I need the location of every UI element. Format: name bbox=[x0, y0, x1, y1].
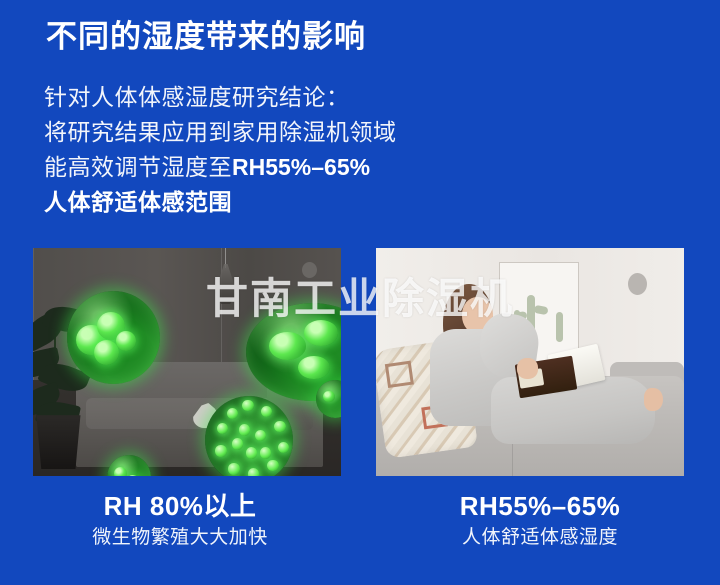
microbe-spike bbox=[239, 424, 250, 435]
microbe-spike bbox=[261, 406, 272, 417]
microbe-nub bbox=[94, 340, 119, 365]
photo-row bbox=[33, 248, 685, 476]
microbe-nub bbox=[304, 320, 338, 345]
pendant-lamp bbox=[218, 248, 234, 308]
caption-right: RH55%–65% 人体舒适体感湿度 bbox=[360, 477, 720, 585]
caption-right-main: RH55%–65% bbox=[460, 489, 621, 523]
body-line-3-highlight: RH55%–65% bbox=[232, 154, 370, 180]
body-line-3-prefix: 能高效调节湿度至 bbox=[44, 154, 232, 180]
microbe-spike bbox=[255, 430, 266, 441]
microbe-spike bbox=[248, 468, 259, 476]
caption-row: RH 80%以上 微生物繁殖大大加快 RH55%–65% 人体舒适体感湿度 bbox=[0, 477, 720, 585]
lamp-shade bbox=[215, 264, 237, 304]
microbe-spike bbox=[215, 445, 226, 456]
microbe-spike bbox=[227, 408, 238, 419]
microbe-nub bbox=[127, 475, 138, 476]
plant-pot bbox=[33, 415, 83, 469]
microbe-spike bbox=[267, 460, 278, 471]
microbe-nub bbox=[298, 356, 330, 380]
microbe-sphere-large bbox=[67, 291, 160, 384]
caption-right-sub: 人体舒适体感湿度 bbox=[462, 523, 618, 553]
microbe-spike bbox=[260, 447, 271, 458]
photo-left-high-humidity bbox=[33, 248, 341, 476]
body-line-2: 将研究结果应用到家用除湿机领域 bbox=[44, 115, 514, 150]
microbe-spike bbox=[217, 423, 228, 434]
photo-right-comfort-humidity bbox=[376, 248, 684, 476]
microbe-nub bbox=[323, 391, 334, 402]
microbe-nub bbox=[269, 332, 306, 359]
caption-left: RH 80%以上 微生物繁殖大大加快 bbox=[0, 477, 360, 585]
wall-speaker-dot bbox=[302, 262, 317, 278]
caption-left-sub: 微生物繁殖大大加快 bbox=[92, 523, 268, 553]
microbe-spike bbox=[278, 442, 289, 453]
body-line-1: 针对人体体感湿度研究结论： bbox=[44, 80, 514, 115]
caption-left-main: RH 80%以上 bbox=[104, 489, 257, 523]
body-line-3: 能高效调节湿度至RH55%–65% bbox=[44, 150, 514, 185]
page-title: 不同的湿度带来的影响 bbox=[46, 18, 366, 57]
microbe-spike bbox=[228, 463, 239, 474]
microbe-spike bbox=[246, 447, 257, 458]
woman-reading bbox=[401, 280, 666, 467]
microbe-spike bbox=[232, 438, 243, 449]
microbe-spike bbox=[242, 400, 253, 411]
body-line-4: 人体舒适体感范围 bbox=[44, 185, 514, 220]
body-copy: 针对人体体感湿度研究结论： 将研究结果应用到家用除湿机领域 能高效调节湿度至RH… bbox=[44, 80, 514, 220]
microbe-sphere-virus bbox=[205, 396, 293, 476]
woman-foot bbox=[644, 388, 663, 410]
microbe-nub bbox=[114, 467, 127, 476]
microbe-spike bbox=[274, 421, 285, 432]
woman-hand bbox=[517, 358, 538, 379]
microbe-nub bbox=[116, 331, 136, 351]
poster-canvas: 不同的湿度带来的影响 针对人体体感湿度研究结论： 将研究结果应用到家用除湿机领域… bbox=[0, 0, 720, 585]
